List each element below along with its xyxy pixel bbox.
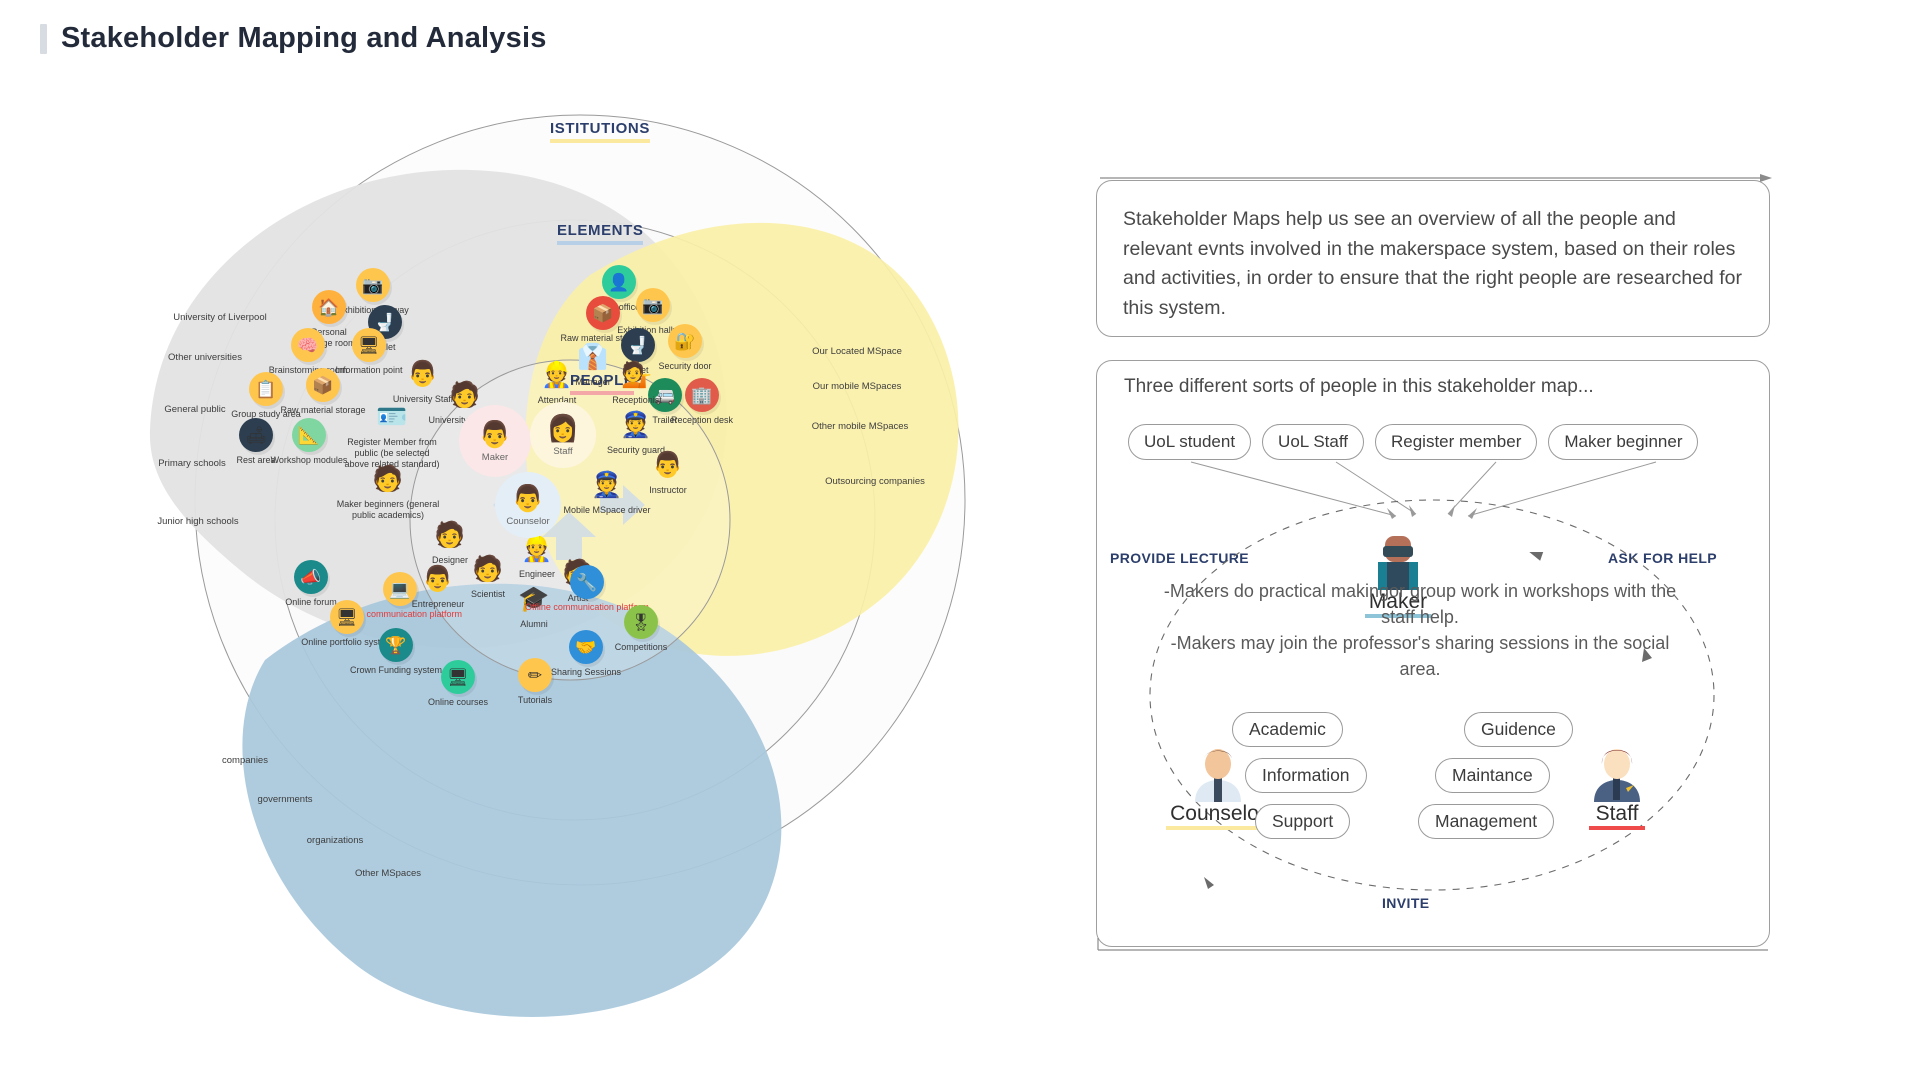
driver-icon: 👮 <box>590 468 624 502</box>
overview-callout: Stakeholder Maps help us see an overview… <box>1096 180 1770 337</box>
person-icon: 👨 <box>651 448 685 482</box>
counselor-underline <box>1166 826 1270 830</box>
wrench-icon: 🔧 <box>570 565 604 599</box>
flow-ellipse <box>1096 430 1768 940</box>
id-card-icon: 🪪 <box>375 400 409 434</box>
sub-heading: Three different sorts of people in this … <box>1124 376 1594 398</box>
people-node[interactable]: 💁 Receptionist <box>589 358 685 406</box>
tag-support[interactable]: Support <box>1255 804 1350 839</box>
ring-label: Our Located MSpace <box>812 346 902 358</box>
counselor-name: Counselor <box>1170 802 1266 826</box>
box-icon: 📦 <box>306 368 340 402</box>
counselor-avatar <box>1191 742 1245 802</box>
ring-label: Our mobile MSpaces <box>813 381 902 393</box>
ring-label: Outsourcing companies <box>825 476 925 488</box>
reception-icon: 🏢 <box>685 378 719 412</box>
service-node[interactable]: 🎖 Competitions <box>593 605 689 653</box>
tag-guidence[interactable]: Guidence <box>1464 712 1573 747</box>
ring-label: Junior high schools <box>157 516 238 528</box>
bottom-arrow-line <box>1096 938 1768 952</box>
counselor-icon: 👨 <box>512 483 544 514</box>
tools-icon: 📐 <box>292 418 326 452</box>
lock-icon: 🔐 <box>668 324 702 358</box>
staff-avatar <box>1590 742 1644 802</box>
person-icon: 🧑 <box>371 462 405 496</box>
ring-label: Other MSpaces <box>355 868 421 880</box>
megaphone-icon: 📣 <box>294 560 328 594</box>
core-counselor[interactable]: 👨 Counselor <box>495 472 561 538</box>
core-staff[interactable]: 👩 Staff <box>530 402 596 468</box>
page-title: Stakeholder Mapping and Analysis <box>61 22 547 55</box>
funnel-icon: 🏆 <box>379 628 413 662</box>
people-node[interactable]: 🧑 Maker beginners (general public academ… <box>324 462 452 521</box>
tag-management[interactable]: Management <box>1418 804 1554 839</box>
ring-label: organizations <box>307 835 364 847</box>
zone-title-elements: ELEMENTS <box>557 222 643 245</box>
person-icon: 🧑 <box>448 378 482 412</box>
tag-information[interactable]: Information <box>1245 758 1367 793</box>
idea-head-icon: 🧠 <box>291 328 325 362</box>
ring-label: Other universities <box>168 352 242 364</box>
title-accent-bar <box>40 24 47 54</box>
overview-text: Stakeholder Maps help us see an overview… <box>1097 181 1769 324</box>
ring-label: General public <box>164 404 225 416</box>
staff-icon: 👩 <box>547 413 579 444</box>
person-icon: 💁 <box>620 358 654 392</box>
ribbon-icon: 🎖 <box>624 605 658 639</box>
people-node[interactable]: 👮 Mobile MSpace driver <box>559 468 655 516</box>
guard-icon: 👮 <box>619 408 653 442</box>
zone-title-istitutions: ISTITUTIONS <box>550 120 650 143</box>
courses-icon: 🖥 <box>441 660 475 694</box>
ring-label: governments <box>258 794 313 806</box>
box-icon: 📦 <box>586 296 620 330</box>
stakeholder-venn-diagram: ISTITUTIONS ELEMENTS PEOPLE University o… <box>120 100 1120 1060</box>
people-node[interactable]: 🪪 Register Member from public (be select… <box>332 400 452 469</box>
person-icon: 🧑 <box>433 518 467 552</box>
ring-label: companies <box>222 755 268 767</box>
persona-staff[interactable]: Staff <box>1552 742 1682 830</box>
ring-label: Other mobile MSpaces <box>812 421 909 433</box>
tag-maintance[interactable]: Maintance <box>1435 758 1550 793</box>
maker-icon: 👨 <box>479 419 511 450</box>
ring-label: University of Liverpool <box>173 312 266 324</box>
page-header: Stakeholder Mapping and Analysis <box>40 22 547 55</box>
core-maker[interactable]: 👨 Maker <box>459 405 531 477</box>
staff-name: Staff <box>1596 802 1639 826</box>
tag-academic[interactable]: Academic <box>1232 712 1343 747</box>
staff-underline <box>1589 826 1645 830</box>
